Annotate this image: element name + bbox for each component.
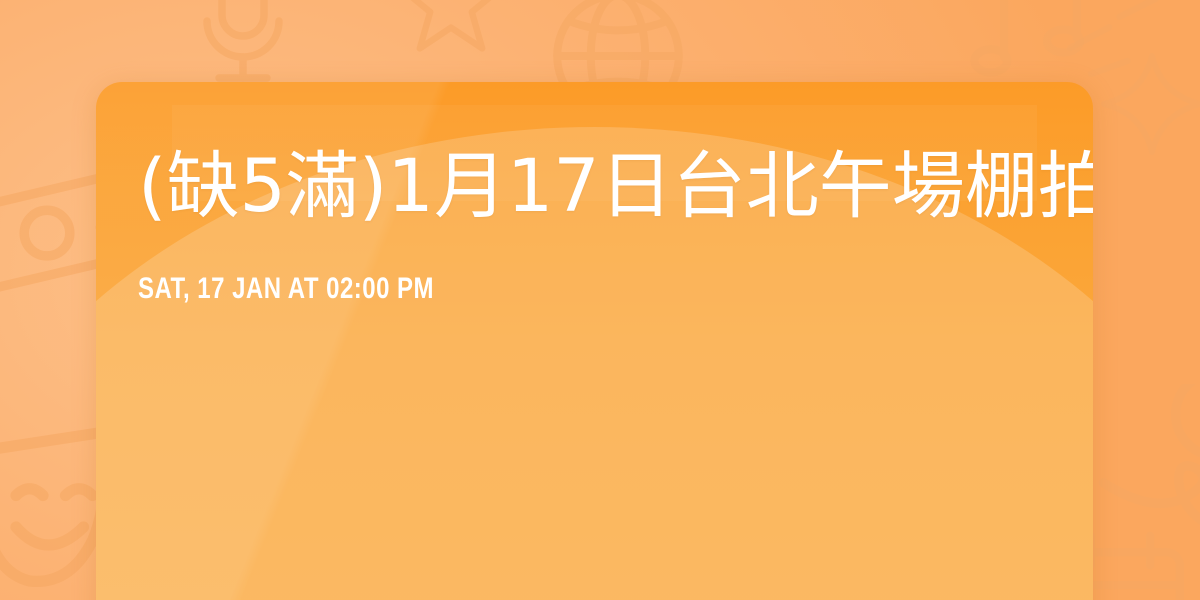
star-icon <box>386 0 516 64</box>
sparkle-icon <box>1092 44 1200 164</box>
event-card[interactable]: (缺5滿)1月17日台北午場棚拍! SAT, 17 JAN AT 02:00 P… <box>96 82 1093 600</box>
event-title: (缺5滿)1月17日台北午場棚拍! <box>138 140 1093 233</box>
event-hero-banner: (缺5滿)1月17日台北午場棚拍! SAT, 17 JAN AT 02:00 P… <box>0 0 1200 600</box>
event-card-content: (缺5滿)1月17日台北午場棚拍! SAT, 17 JAN AT 02:00 P… <box>138 140 1093 306</box>
event-datetime: SAT, 17 JAN AT 02:00 PM <box>138 272 1062 306</box>
balloon-icon <box>1092 384 1200 574</box>
